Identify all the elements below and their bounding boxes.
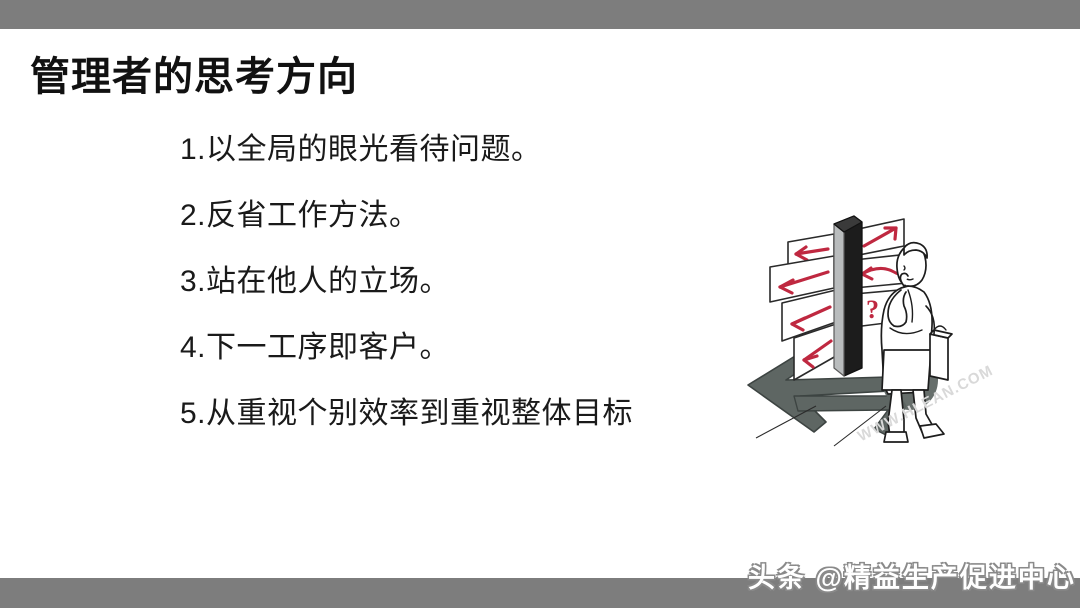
list-item: 4.下一工序即客户。 <box>180 333 740 363</box>
footer-credit: 头条 @精益生产促进中心 <box>748 556 1076 595</box>
slide-root: 管理者的思考方向 1.以全局的眼光看待问题。 2.反省工作方法。 3.站在他人的… <box>0 0 1080 608</box>
page-title: 管理者的思考方向 <box>30 44 358 102</box>
question-mark-glyph: ? <box>866 295 879 324</box>
signpost-illustration: ? <box>738 210 958 460</box>
list-item: 2.反省工作方法。 <box>180 201 740 231</box>
list-item: 3.站在他人的立场。 <box>180 267 740 297</box>
signpost-column <box>834 216 862 376</box>
top-band <box>0 0 1080 29</box>
list-item: 1.以全局的眼光看待问题。 <box>180 135 740 165</box>
list-item: 5.从重视个别效率到重视整体目标 <box>180 399 740 429</box>
bullet-list: 1.以全局的眼光看待问题。 2.反省工作方法。 3.站在他人的立场。 4.下一工… <box>180 135 740 465</box>
